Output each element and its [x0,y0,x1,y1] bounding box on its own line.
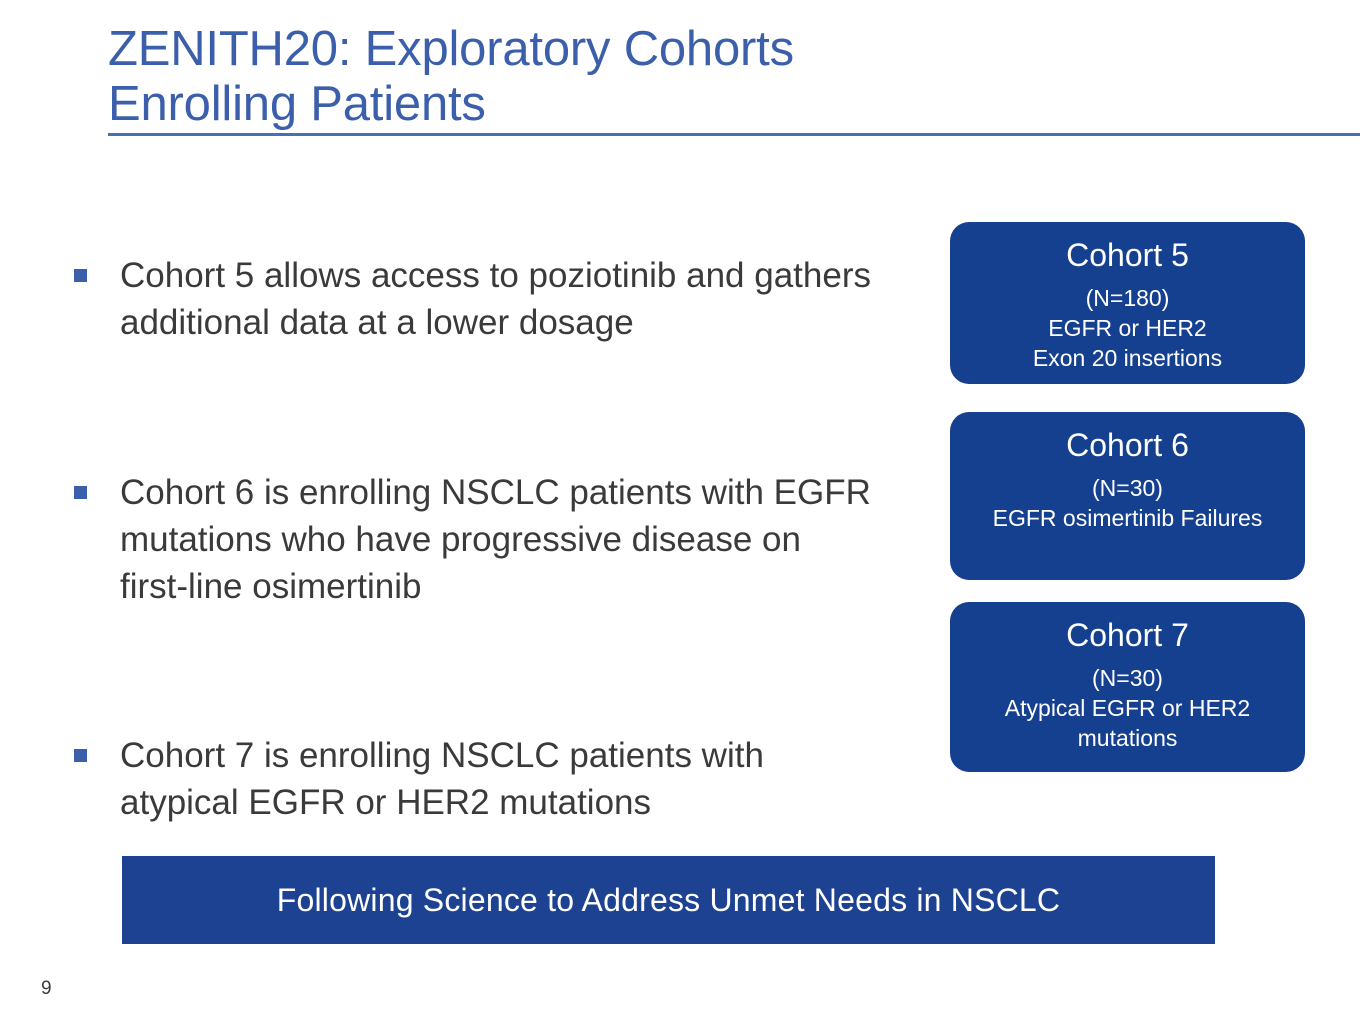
cohort-card-n: (N=30) [950,473,1305,503]
square-bullet-icon [74,486,87,499]
page-title-line-1: ZENITH20: Exploratory Cohorts [108,22,1108,77]
page-number: 9 [41,978,52,1000]
tagline-banner: Following Science to Address Unmet Needs… [122,856,1215,944]
cohort-card-details: (N=30) Atypical EGFR or HER2 mutations [950,663,1305,753]
list-item: Cohort 5 allows access to poziotinib and… [74,252,874,346]
cohort-card-line2: EGFR osimertinib Failures [950,503,1305,533]
list-item-label: Cohort 7 is enrolling NSCLC patients wit… [120,732,874,826]
list-item-label: Cohort 5 allows access to poziotinib and… [120,252,874,346]
cohort-card-line3: Exon 20 insertions [950,343,1305,373]
tagline-banner-label: Following Science to Address Unmet Needs… [277,881,1061,919]
cohort-card-title: Cohort 6 [950,425,1305,465]
list-item-label: Cohort 6 is enrolling NSCLC patients wit… [120,469,874,610]
cohort-card-line2: EGFR or HER2 [950,313,1305,343]
list-item: Cohort 7 is enrolling NSCLC patients wit… [74,732,874,826]
cohort-card-n: (N=30) [950,663,1305,693]
cohort-card-details: (N=180) EGFR or HER2 Exon 20 insertions [950,283,1305,373]
cohort-card-title: Cohort 5 [950,235,1305,275]
cohort-card-6: Cohort 6 (N=30) EGFR osimertinib Failure… [950,412,1305,580]
page-title: ZENITH20: Exploratory Cohorts Enrolling … [108,22,1108,132]
cohort-card-title: Cohort 7 [950,615,1305,655]
list-item: Cohort 6 is enrolling NSCLC patients wit… [74,469,874,610]
cohort-card-7: Cohort 7 (N=30) Atypical EGFR or HER2 mu… [950,602,1305,772]
slide-canvas: ZENITH20: Exploratory Cohorts Enrolling … [0,0,1365,1024]
cohort-card-n: (N=180) [950,283,1305,313]
cohort-card-line3: mutations [950,723,1305,753]
title-divider [108,133,1360,136]
page-title-line-2: Enrolling Patients [108,77,1108,132]
square-bullet-icon [74,749,87,762]
cohort-card-line2: Atypical EGFR or HER2 [950,693,1305,723]
bullet-list: Cohort 5 allows access to poziotinib and… [74,252,874,826]
cohort-card-5: Cohort 5 (N=180) EGFR or HER2 Exon 20 in… [950,222,1305,384]
cohort-card-details: (N=30) EGFR osimertinib Failures [950,473,1305,533]
square-bullet-icon [74,269,87,282]
